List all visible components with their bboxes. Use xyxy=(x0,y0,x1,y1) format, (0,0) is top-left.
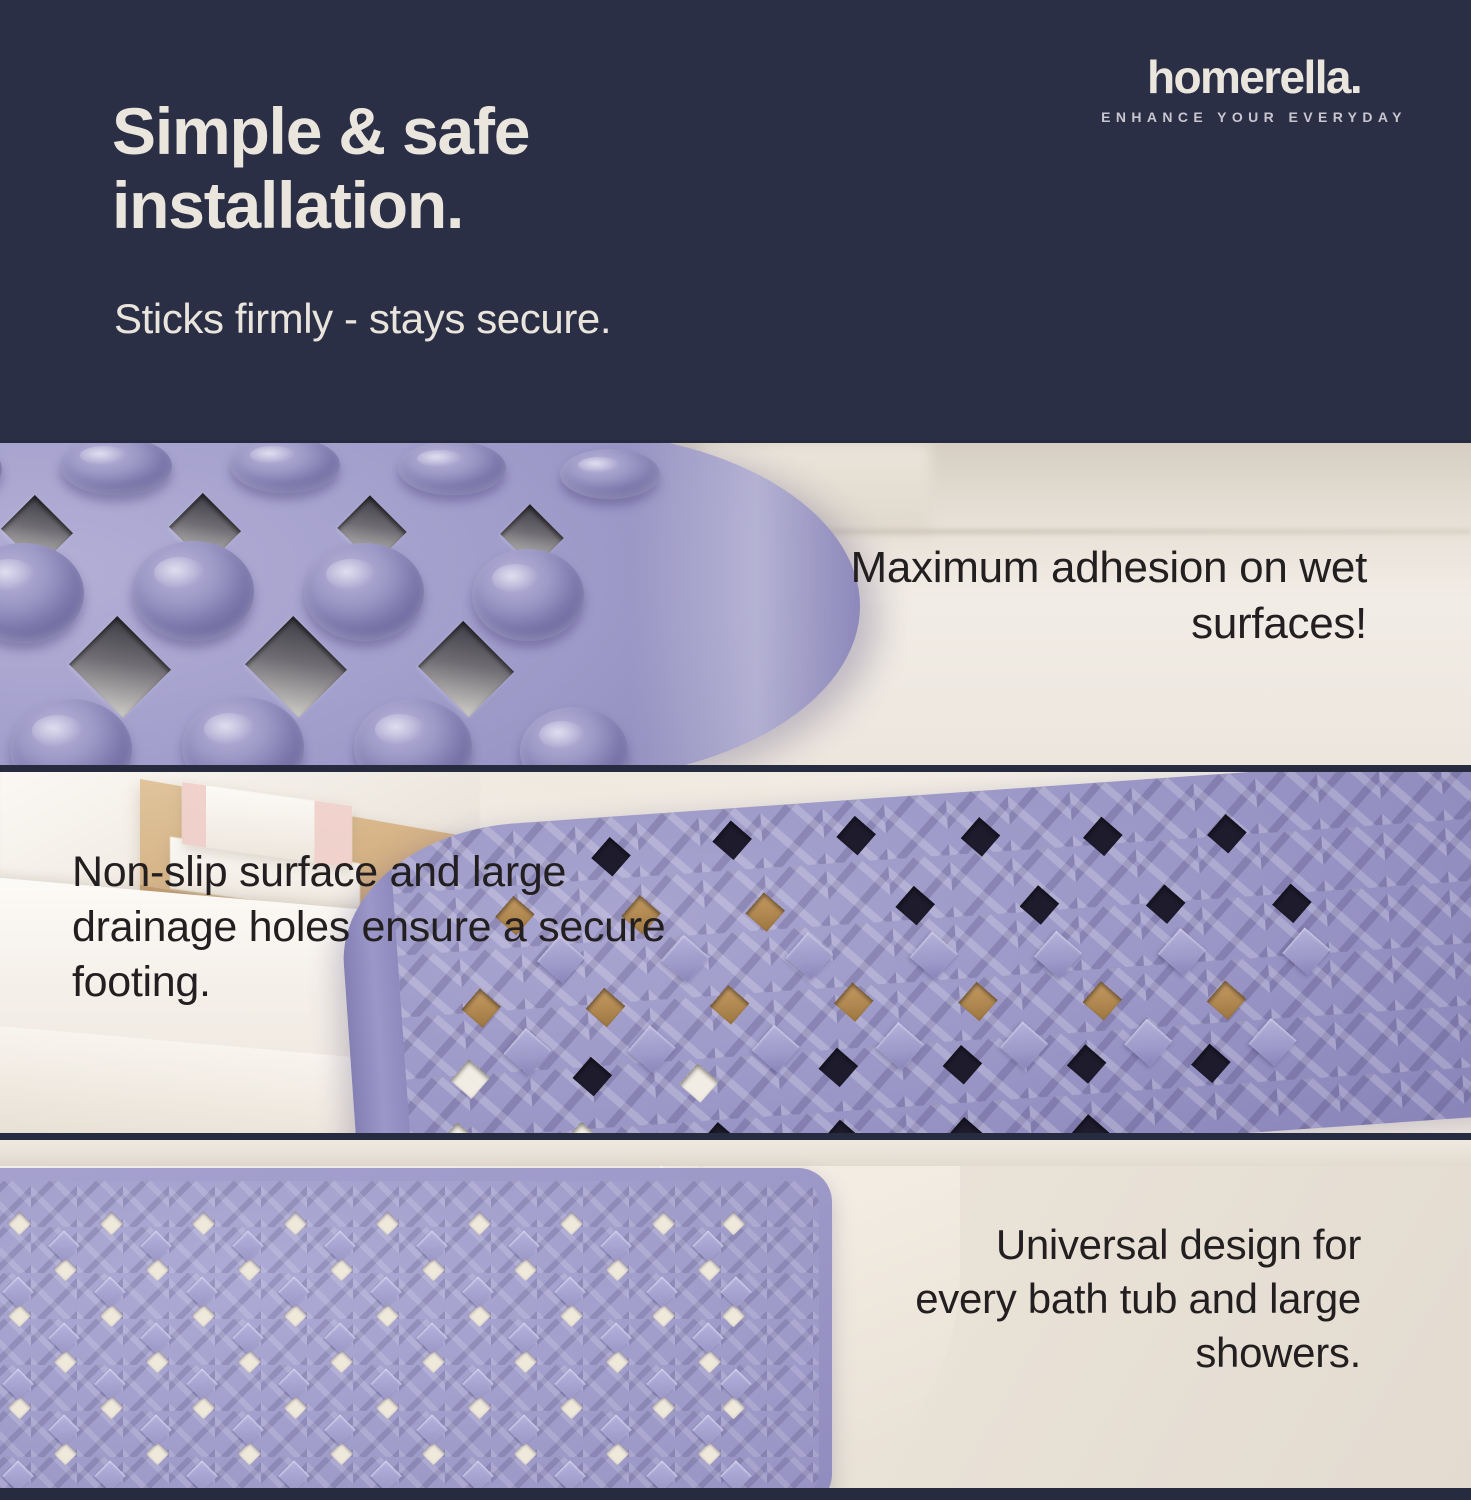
brand-logo: homerella. ENHANCE YOUR EVERYDAY xyxy=(1099,54,1409,125)
bath-mat-underside-image xyxy=(0,443,860,765)
panel-divider-2 xyxy=(0,1133,1471,1140)
brand-wordmark-icon: homerella. xyxy=(1099,54,1409,100)
bottom-border xyxy=(0,1488,1471,1500)
page-title: Simple & safe installation. xyxy=(112,95,872,243)
tub-rim-top xyxy=(0,1140,1471,1166)
product-infographic: Simple & safe installation. Sticks firml… xyxy=(0,0,1471,1500)
mat-surface xyxy=(0,1181,819,1488)
page-subtitle: Sticks firmly - stays secure. xyxy=(114,295,934,343)
brand-tagline: ENHANCE YOUR EVERYDAY xyxy=(1099,109,1409,125)
edge-highlight xyxy=(630,443,860,765)
panel-caption-adhesion: Maximum adhesion on wet surfaces! xyxy=(847,540,1367,653)
panel-divider-1 xyxy=(0,765,1471,772)
panel-caption-universal: Universal design for every bath tub and … xyxy=(891,1218,1361,1379)
panel-caption-nonslip: Non-slip surface and large drainage hole… xyxy=(72,845,692,1010)
bath-mat-flat-image xyxy=(0,1168,832,1488)
header-banner: Simple & safe installation. Sticks firml… xyxy=(0,0,1471,440)
